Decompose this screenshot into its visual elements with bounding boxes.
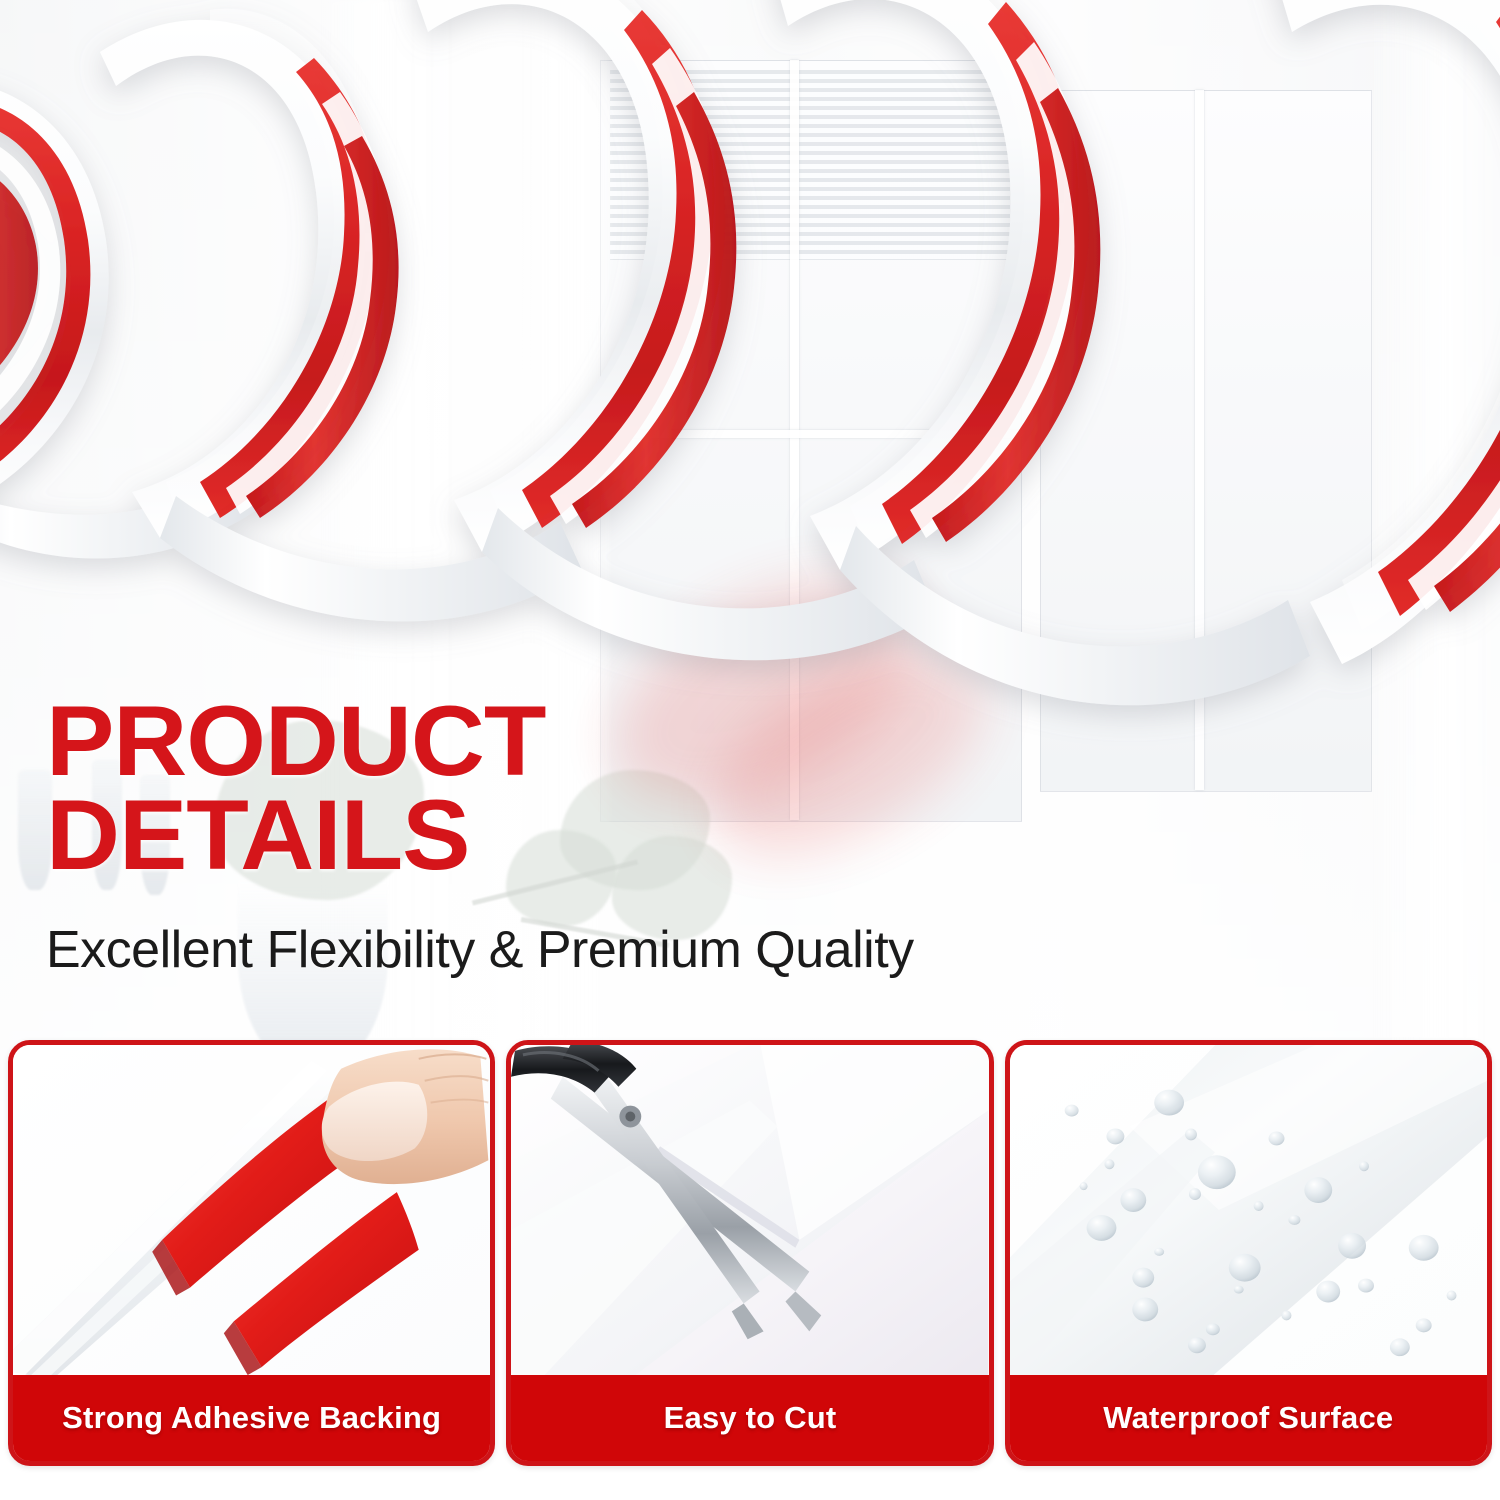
coiled-tape-hero-image (0, 0, 1500, 800)
page-title-line-1: PRODUCT (46, 694, 1267, 788)
page-subtitle: Excellent Flexibility & Premium Quality (46, 882, 1226, 978)
feature-panel-waterproof-surface[interactable]: Waterproof Surface (1005, 1040, 1492, 1466)
tape-ribbon-segment (840, 526, 1310, 705)
scissors-icon (511, 1045, 988, 1375)
product-details-infographic: PRODUCT DETAILS Excellent Flexibility & … (0, 0, 1500, 1500)
headline-block: PRODUCT DETAILS Excellent Flexibility & … (46, 694, 1226, 978)
feature-panel-easy-to-cut[interactable]: Easy to Cut (506, 1040, 993, 1466)
page-title: PRODUCT DETAILS (46, 694, 1267, 882)
tape-coil-2 (100, 9, 399, 538)
feature-panel-row: Strong Adhesive Backing (8, 1040, 1492, 1466)
tape-coil-3 (410, 0, 736, 552)
feature-panel-strong-adhesive-backing[interactable]: Strong Adhesive Backing (8, 1040, 495, 1466)
panel-caption: Easy to Cut (511, 1375, 988, 1461)
peel-liner-icon (13, 1045, 490, 1375)
tape-coil-4 (772, 0, 1100, 570)
tape-coil-5 (1270, 0, 1500, 664)
tape-coil-1 (0, 81, 109, 515)
water-droplets-icon (1010, 1045, 1487, 1375)
page-title-line-2: DETAILS (46, 788, 1267, 882)
panel-caption: Waterproof Surface (1010, 1375, 1487, 1461)
panel-caption: Strong Adhesive Backing (13, 1375, 490, 1461)
